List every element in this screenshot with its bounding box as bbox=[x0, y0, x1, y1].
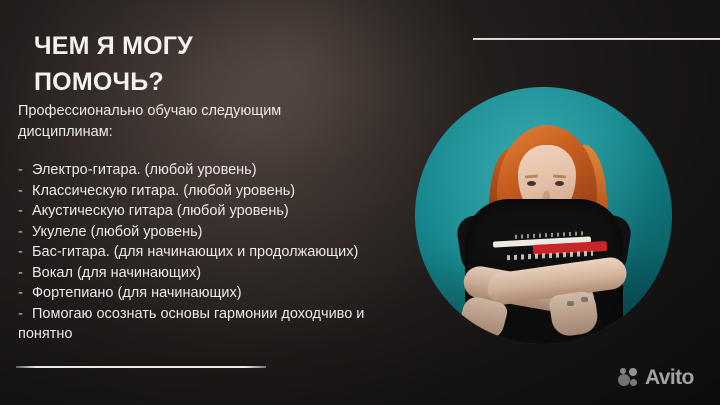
bullet-dash-icon: - bbox=[18, 222, 32, 243]
list-item-label: Фортепиано (для начинающих) bbox=[32, 285, 242, 301]
list-item: -Укулеле (любой уровень) bbox=[18, 222, 378, 243]
list-item: -Классическую гитара. (любой уровень) bbox=[18, 181, 378, 202]
intro-text: Профессионально обучаю следующим дисципл… bbox=[18, 101, 368, 143]
avito-wordmark: Avito bbox=[645, 368, 694, 388]
page-title: ЧЕМ Я МОГУ ПОМОЧЬ? bbox=[34, 28, 394, 100]
list-item: -Акустическую гитара (любой уровень) bbox=[18, 201, 378, 222]
portrait-photo bbox=[415, 87, 672, 344]
list-item: -Помогаю осознать основы гармонии доходч… bbox=[18, 304, 378, 345]
avito-watermark: Avito bbox=[618, 368, 694, 388]
list-item: -Бас-гитара. (для начинающих и продолжаю… bbox=[18, 242, 378, 263]
bullet-dash-icon: - bbox=[18, 304, 32, 325]
list-item-label: Укулеле (любой уровень) bbox=[32, 224, 202, 240]
avito-logo-icon bbox=[618, 368, 640, 388]
list-item-label: Помогаю осознать основы гармонии доходчи… bbox=[18, 306, 364, 343]
page-title-line-2: ПОМОЧЬ? bbox=[34, 64, 394, 100]
list-item-label: Бас-гитара. (для начинающих и продолжающ… bbox=[32, 244, 358, 260]
list-item-label: Вокал (для начинающих) bbox=[32, 265, 201, 281]
promo-slide: ЧЕМ Я МОГУ ПОМОЧЬ? Профессионально обуча… bbox=[0, 0, 720, 405]
bullet-dash-icon: - bbox=[18, 242, 32, 263]
list-item: -Электро-гитара. (любой уровень) bbox=[18, 160, 378, 181]
bullet-dash-icon: - bbox=[18, 181, 32, 202]
bullet-dash-icon: - bbox=[18, 283, 32, 304]
disciplines-list: -Электро-гитара. (любой уровень) -Класси… bbox=[18, 160, 378, 345]
bottom-divider bbox=[16, 366, 266, 368]
bullet-dash-icon: - bbox=[18, 201, 32, 222]
list-item-label: Электро-гитара. (любой уровень) bbox=[32, 162, 257, 178]
portrait-shadow-overlay bbox=[415, 87, 672, 344]
list-item: -Вокал (для начинающих) bbox=[18, 263, 378, 284]
bullet-dash-icon: - bbox=[18, 263, 32, 284]
list-item-label: Классическую гитара. (любой уровень) bbox=[32, 183, 295, 199]
list-item-label: Акустическую гитара (любой уровень) bbox=[32, 203, 289, 219]
page-title-line-1: ЧЕМ Я МОГУ bbox=[34, 32, 193, 60]
bullet-dash-icon: - bbox=[18, 160, 32, 181]
list-item: -Фортепиано (для начинающих) bbox=[18, 283, 378, 304]
top-right-divider bbox=[473, 38, 720, 40]
